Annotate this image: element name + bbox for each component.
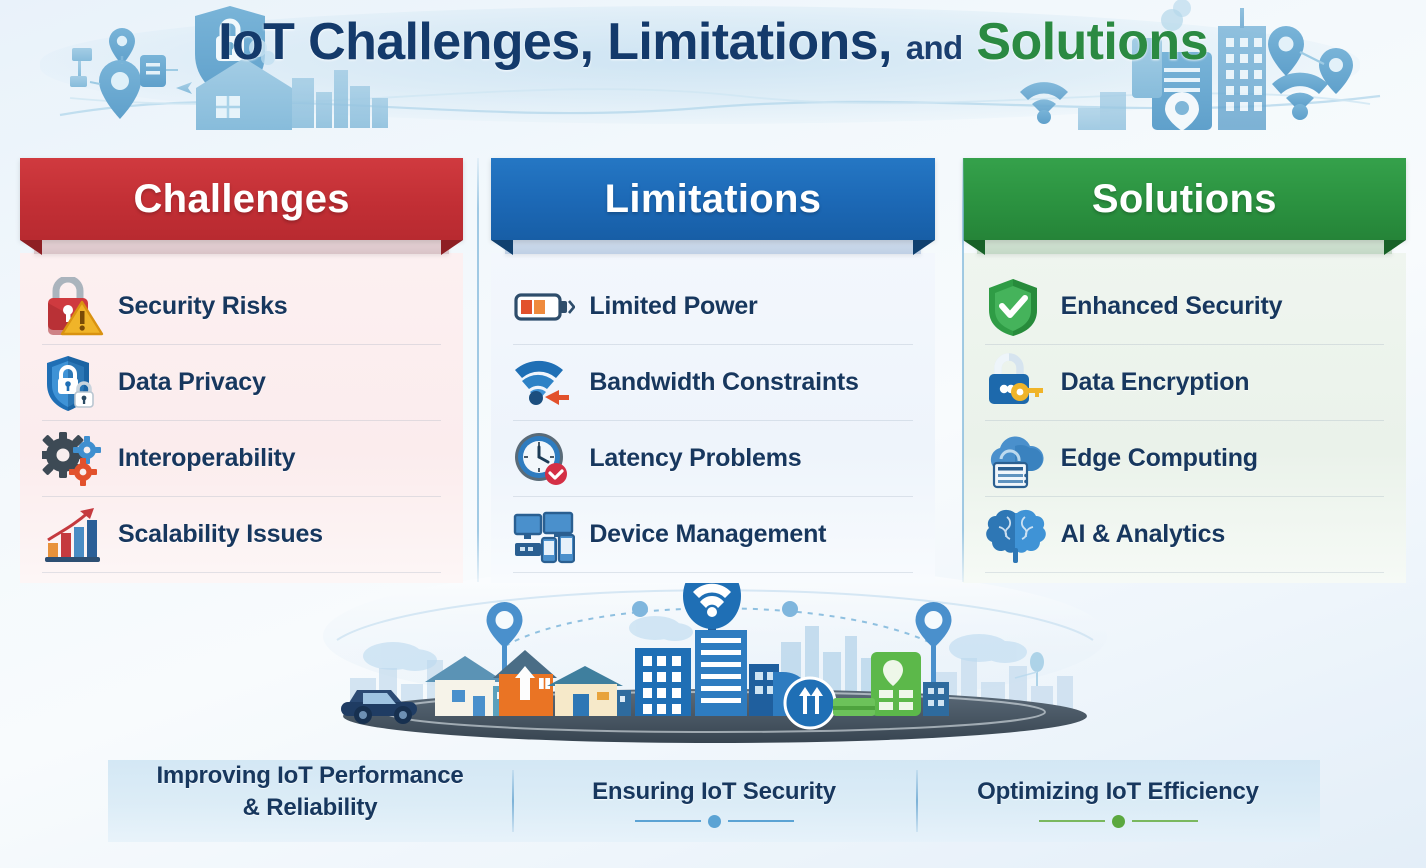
list-item[interactable]: Bandwidth Constraints [513,345,912,421]
columns-container: Challenges Security Risks [20,158,1406,582]
list-item[interactable]: Data Privacy [42,345,441,421]
ribbon-shelf [505,240,920,254]
accent-line-left [1039,820,1105,822]
list-item-label: Device Management [589,520,826,549]
list-item-label: Limited Power [589,292,757,321]
battery-icon [513,277,575,337]
accent-dot [708,815,721,828]
footer-line-2: & Reliability [243,794,378,821]
ribbon-shelf [977,240,1392,254]
list-item-label: Enhanced Security [1061,292,1283,321]
bar-chart-arrow-icon [42,505,104,565]
header-banner: IoT Challenges, Limitations, and Solutio… [0,0,1426,150]
page-title: IoT Challenges, Limitations, and Solutio… [0,12,1426,72]
ribbon-shelf [34,240,449,254]
list-item[interactable]: Limited Power [513,269,912,345]
cloud-server-icon [985,429,1047,489]
accent-line-right [728,820,794,822]
footer-item[interactable]: Optimizing IoT Efficiency [916,760,1320,842]
list-item[interactable]: Device Management [513,497,912,573]
list-item-label: Scalability Issues [118,520,323,549]
column-divider [477,158,479,582]
card-challenges: Security Risks [20,253,463,583]
list-item[interactable]: Edge Computing [985,421,1384,497]
column-divider [962,158,964,582]
column-solutions: Solutions Enhanced Security [963,158,1406,582]
footer-bar: Improving IoT Performance & Reliability … [108,760,1320,842]
footer-accent [1039,815,1198,828]
shield-check-icon [985,277,1047,337]
clock-icon [513,429,575,489]
footer-item-text: Ensuring IoT Security [592,776,836,808]
footer-item[interactable]: Improving IoT Performance & Reliability [108,760,512,842]
gears-icon [42,429,104,489]
brain-icon [985,505,1047,565]
building-icon [292,70,388,128]
footer-accent [635,815,794,828]
shield-lock-icon [42,353,104,413]
wifi-icon [1272,73,1328,120]
footer-item-text: Improving IoT Performance & Reliability [156,760,463,823]
accent-dot [1112,815,1125,828]
list-item-label: Edge Computing [1061,444,1258,473]
lock-key-icon [985,353,1047,413]
column-challenges: Challenges Security Risks [20,158,463,582]
card-solutions: Enhanced Security Da [963,253,1406,583]
title-main: IoT Challenges, Limitations, [218,13,892,71]
footer-line-1: Improving IoT Performance [156,762,463,789]
list-item-label: Security Risks [118,292,288,321]
list-item-label: Data Encryption [1061,368,1250,397]
accent-line-right [1132,820,1198,822]
list-item[interactable]: Scalability Issues [42,497,441,573]
title-solutions: Solutions [976,13,1207,71]
column-heading-challenges: Challenges [20,158,463,240]
footer-line-1: Optimizing IoT Efficiency [977,778,1259,805]
list-item[interactable]: AI & Analytics [985,497,1384,573]
list-item-label: Data Privacy [118,368,266,397]
accent-line-left [635,820,701,822]
list-item-label: Bandwidth Constraints [589,368,858,397]
list-item[interactable]: Interoperability [42,421,441,497]
footer-line-1: Ensuring IoT Security [592,778,836,805]
list-item[interactable]: Data Encryption [985,345,1384,421]
list-item[interactable]: Latency Problems [513,421,912,497]
list-item[interactable]: Enhanced Security [985,269,1384,345]
wifi-icon [1020,82,1068,124]
column-heading-limitations: Limitations [491,158,934,240]
list-item-label: AI & Analytics [1061,520,1225,549]
footer-item[interactable]: Ensuring IoT Security [512,760,916,842]
smart-city-illustration [315,560,1115,745]
wifi-arrow-icon [513,353,575,413]
title-and: and [906,29,963,66]
column-heading-solutions: Solutions [963,158,1406,240]
column-limitations: Limitations Limited Power [491,158,934,582]
list-item[interactable]: Security Risks [42,269,441,345]
devices-icon [513,505,575,565]
list-item-label: Latency Problems [589,444,801,473]
card-limitations: Limited Power Bandwidth Constraints [491,253,934,583]
list-item-label: Interoperability [118,444,295,473]
lock-warning-icon [42,277,104,337]
footer-item-text: Optimizing IoT Efficiency [977,776,1259,808]
